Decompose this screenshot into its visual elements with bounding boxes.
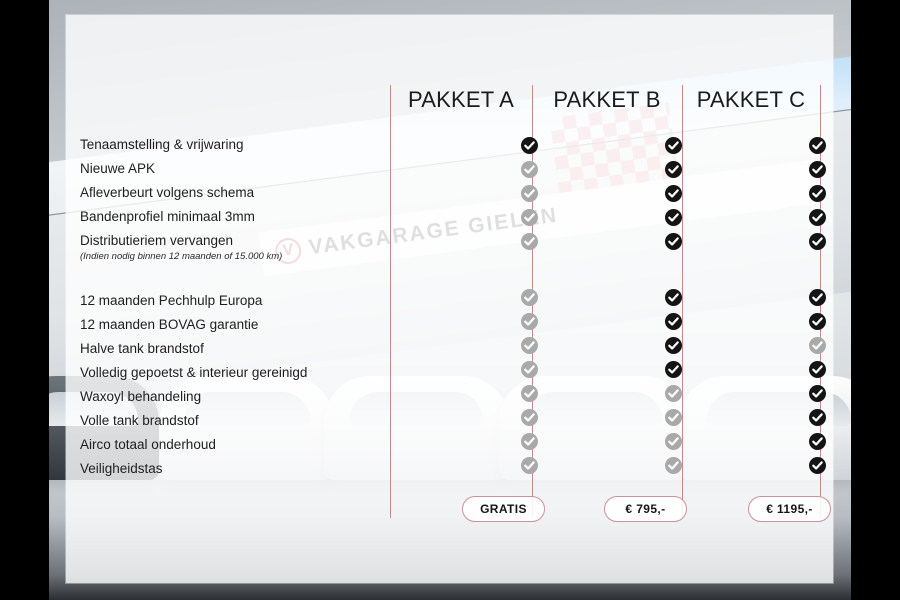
letterbox-bar-left: [0, 0, 49, 600]
check-excluded-icon: [665, 385, 682, 402]
check-excluded-icon: [521, 209, 538, 226]
feature-label: Nieuwe APK: [80, 157, 380, 181]
check-cell: [660, 405, 686, 429]
check-cell: [660, 205, 686, 229]
check-cell: [804, 285, 830, 309]
check-included-icon: [809, 313, 826, 330]
feature-note: (Indien nodig binnen 12 maanden of 15.00…: [80, 251, 380, 263]
check-cell: [516, 333, 542, 357]
check-excluded-icon: [665, 409, 682, 426]
comparison-grid: PAKKET A PAKKET B PAKKET C Tenaamstellin…: [66, 15, 833, 583]
check-excluded-icon: [521, 409, 538, 426]
check-excluded-icon: [521, 313, 538, 330]
check-excluded-icon: [521, 457, 538, 474]
check-excluded-icon: [521, 433, 538, 450]
check-included-icon: [521, 137, 538, 154]
check-cell: [804, 429, 830, 453]
check-included-icon: [809, 361, 826, 378]
check-cell: [660, 157, 686, 181]
check-column-pakket-c: [804, 133, 830, 477]
check-cell: [516, 453, 542, 477]
check-included-icon: [809, 233, 826, 250]
check-included-icon: [809, 289, 826, 306]
check-cell: [660, 333, 686, 357]
check-cell: [804, 229, 830, 253]
check-included-icon: [809, 161, 826, 178]
check-column-pakket-b: [660, 133, 686, 477]
check-cell: [660, 309, 686, 333]
feature-label: Volle tank brandstof: [80, 409, 380, 433]
feature-label-list: Tenaamstelling & vrijwaringNieuwe APKAfl…: [80, 133, 380, 481]
feature-label: Tenaamstelling & vrijwaring: [80, 133, 380, 157]
check-included-icon: [665, 313, 682, 330]
check-cell: [804, 381, 830, 405]
check-excluded-icon: [521, 161, 538, 178]
check-included-icon: [665, 233, 682, 250]
price-badge-pakket-b[interactable]: € 795,-: [604, 496, 687, 522]
check-included-icon: [665, 361, 682, 378]
letterbox-bar-right: [851, 0, 900, 600]
check-cell: [660, 229, 686, 253]
check-included-icon: [665, 289, 682, 306]
column-header-pakket-b: PAKKET B: [532, 87, 682, 113]
check-cell: [804, 357, 830, 381]
feature-label: Afleverbeurt volgens schema: [80, 181, 380, 205]
check-cell: [516, 357, 542, 381]
feature-label: Airco totaal onderhoud: [80, 433, 380, 457]
feature-label: 12 maanden BOVAG garantie: [80, 313, 380, 337]
check-excluded-icon: [521, 361, 538, 378]
check-cell: [516, 381, 542, 405]
group-separator: [660, 265, 686, 285]
check-included-icon: [665, 161, 682, 178]
check-cell: [804, 181, 830, 205]
check-excluded-icon: [665, 433, 682, 450]
check-included-icon: [809, 137, 826, 154]
note-spacer: [516, 253, 542, 265]
check-included-icon: [809, 433, 826, 450]
column-divider: [390, 85, 391, 518]
check-cell: [516, 229, 542, 253]
check-excluded-icon: [521, 337, 538, 354]
check-cell: [804, 157, 830, 181]
check-cell: [804, 133, 830, 157]
check-included-icon: [809, 185, 826, 202]
feature-label: Waxoyl behandeling: [80, 385, 380, 409]
check-cell: [660, 429, 686, 453]
check-cell: [660, 381, 686, 405]
check-excluded-icon: [521, 385, 538, 402]
check-cell: [660, 133, 686, 157]
check-included-icon: [665, 209, 682, 226]
check-cell: [516, 285, 542, 309]
check-cell: [804, 309, 830, 333]
column-header-pakket-a: PAKKET A: [390, 87, 532, 113]
price-badge-pakket-c[interactable]: € 1195,-: [748, 496, 831, 522]
check-cell: [516, 133, 542, 157]
group-separator: [80, 269, 380, 289]
feature-label: Halve tank brandstof: [80, 337, 380, 361]
feature-label: Volledig gepoetst & interieur gereinigd: [80, 361, 380, 385]
package-comparison-card: PAKKET A PAKKET B PAKKET C Tenaamstellin…: [66, 15, 833, 583]
check-cell: [660, 285, 686, 309]
feature-label: 12 maanden Pechhulp Europa: [80, 289, 380, 313]
check-cell: [804, 333, 830, 357]
feature-label: Veiligheidstas: [80, 457, 380, 481]
check-included-icon: [809, 409, 826, 426]
feature-label: Bandenprofiel minimaal 3mm: [80, 205, 380, 229]
check-included-icon: [809, 457, 826, 474]
group-separator: [804, 265, 830, 285]
check-included-icon: [665, 185, 682, 202]
check-cell: [516, 405, 542, 429]
check-column-pakket-a: [516, 133, 542, 477]
price-badge-pakket-a[interactable]: GRATIS: [462, 496, 545, 522]
check-cell: [804, 405, 830, 429]
check-included-icon: [809, 209, 826, 226]
check-cell: [516, 429, 542, 453]
check-excluded-icon: [521, 233, 538, 250]
group-separator: [516, 265, 542, 285]
check-cell: [660, 453, 686, 477]
note-spacer: [804, 253, 830, 265]
check-excluded-icon: [665, 457, 682, 474]
check-cell: [660, 357, 686, 381]
check-cell: [660, 181, 686, 205]
check-excluded-icon: [521, 289, 538, 306]
check-cell: [516, 205, 542, 229]
check-excluded-icon: [521, 185, 538, 202]
check-cell: [516, 181, 542, 205]
check-cell: [804, 453, 830, 477]
check-cell: [804, 205, 830, 229]
check-cell: [516, 157, 542, 181]
check-cell: [516, 309, 542, 333]
column-header-pakket-c: PAKKET C: [682, 87, 820, 113]
check-excluded-icon: [809, 337, 826, 354]
note-spacer: [660, 253, 686, 265]
check-included-icon: [665, 137, 682, 154]
check-included-icon: [809, 385, 826, 402]
feature-label: Distributieriem vervangen: [80, 229, 380, 253]
check-included-icon: [665, 337, 682, 354]
screenshot-stage: V VAKGARAGE GIELEN PAKKET A PAKKET B PAK…: [0, 0, 900, 600]
